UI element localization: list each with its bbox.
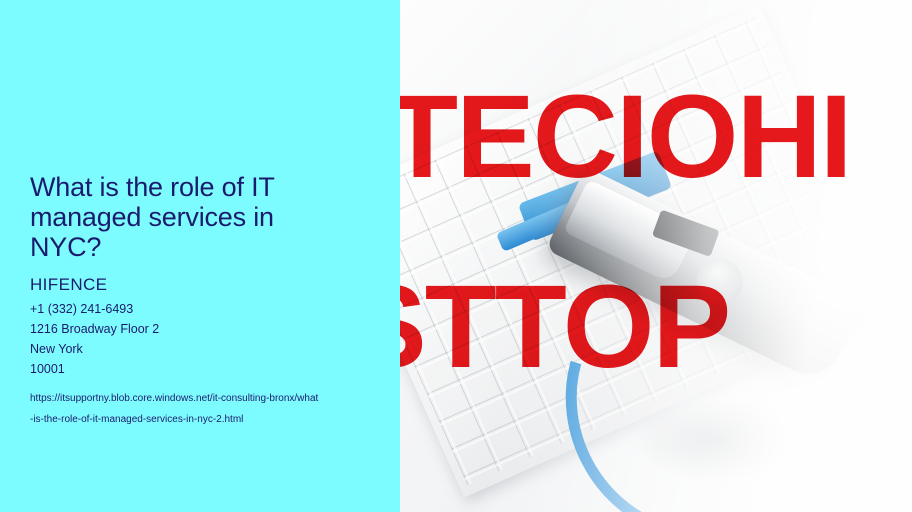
info-panel: What is the role of IT managed services … (0, 0, 400, 512)
page-title: What is the role of IT managed services … (30, 172, 340, 262)
media-panel: TECIOHI STTOP (400, 0, 912, 512)
contact-zip: 10001 (30, 359, 370, 379)
source-url[interactable]: https://itsupportny.blob.core.windows.ne… (30, 388, 370, 430)
overlay-wordmark: TECIOHI STTOP (400, 0, 912, 512)
contact-phone[interactable]: +1 (332) 241-6493 (30, 299, 370, 319)
contact-city: New York (30, 339, 370, 359)
overlay-line-2: STTOP (400, 268, 729, 386)
source-url-line-1[interactable]: https://itsupportny.blob.core.windows.ne… (30, 388, 370, 409)
contact-street: 1216 Broadway Floor 2 (30, 319, 370, 339)
overlay-line-1: TECIOHI (400, 78, 851, 196)
brand-name: HIFENCE (30, 274, 370, 296)
source-url-line-2[interactable]: -is-the-role-of-it-managed-services-in-n… (30, 409, 370, 430)
promo-card: What is the role of IT managed services … (0, 0, 912, 512)
info-content: What is the role of IT managed services … (30, 172, 370, 430)
